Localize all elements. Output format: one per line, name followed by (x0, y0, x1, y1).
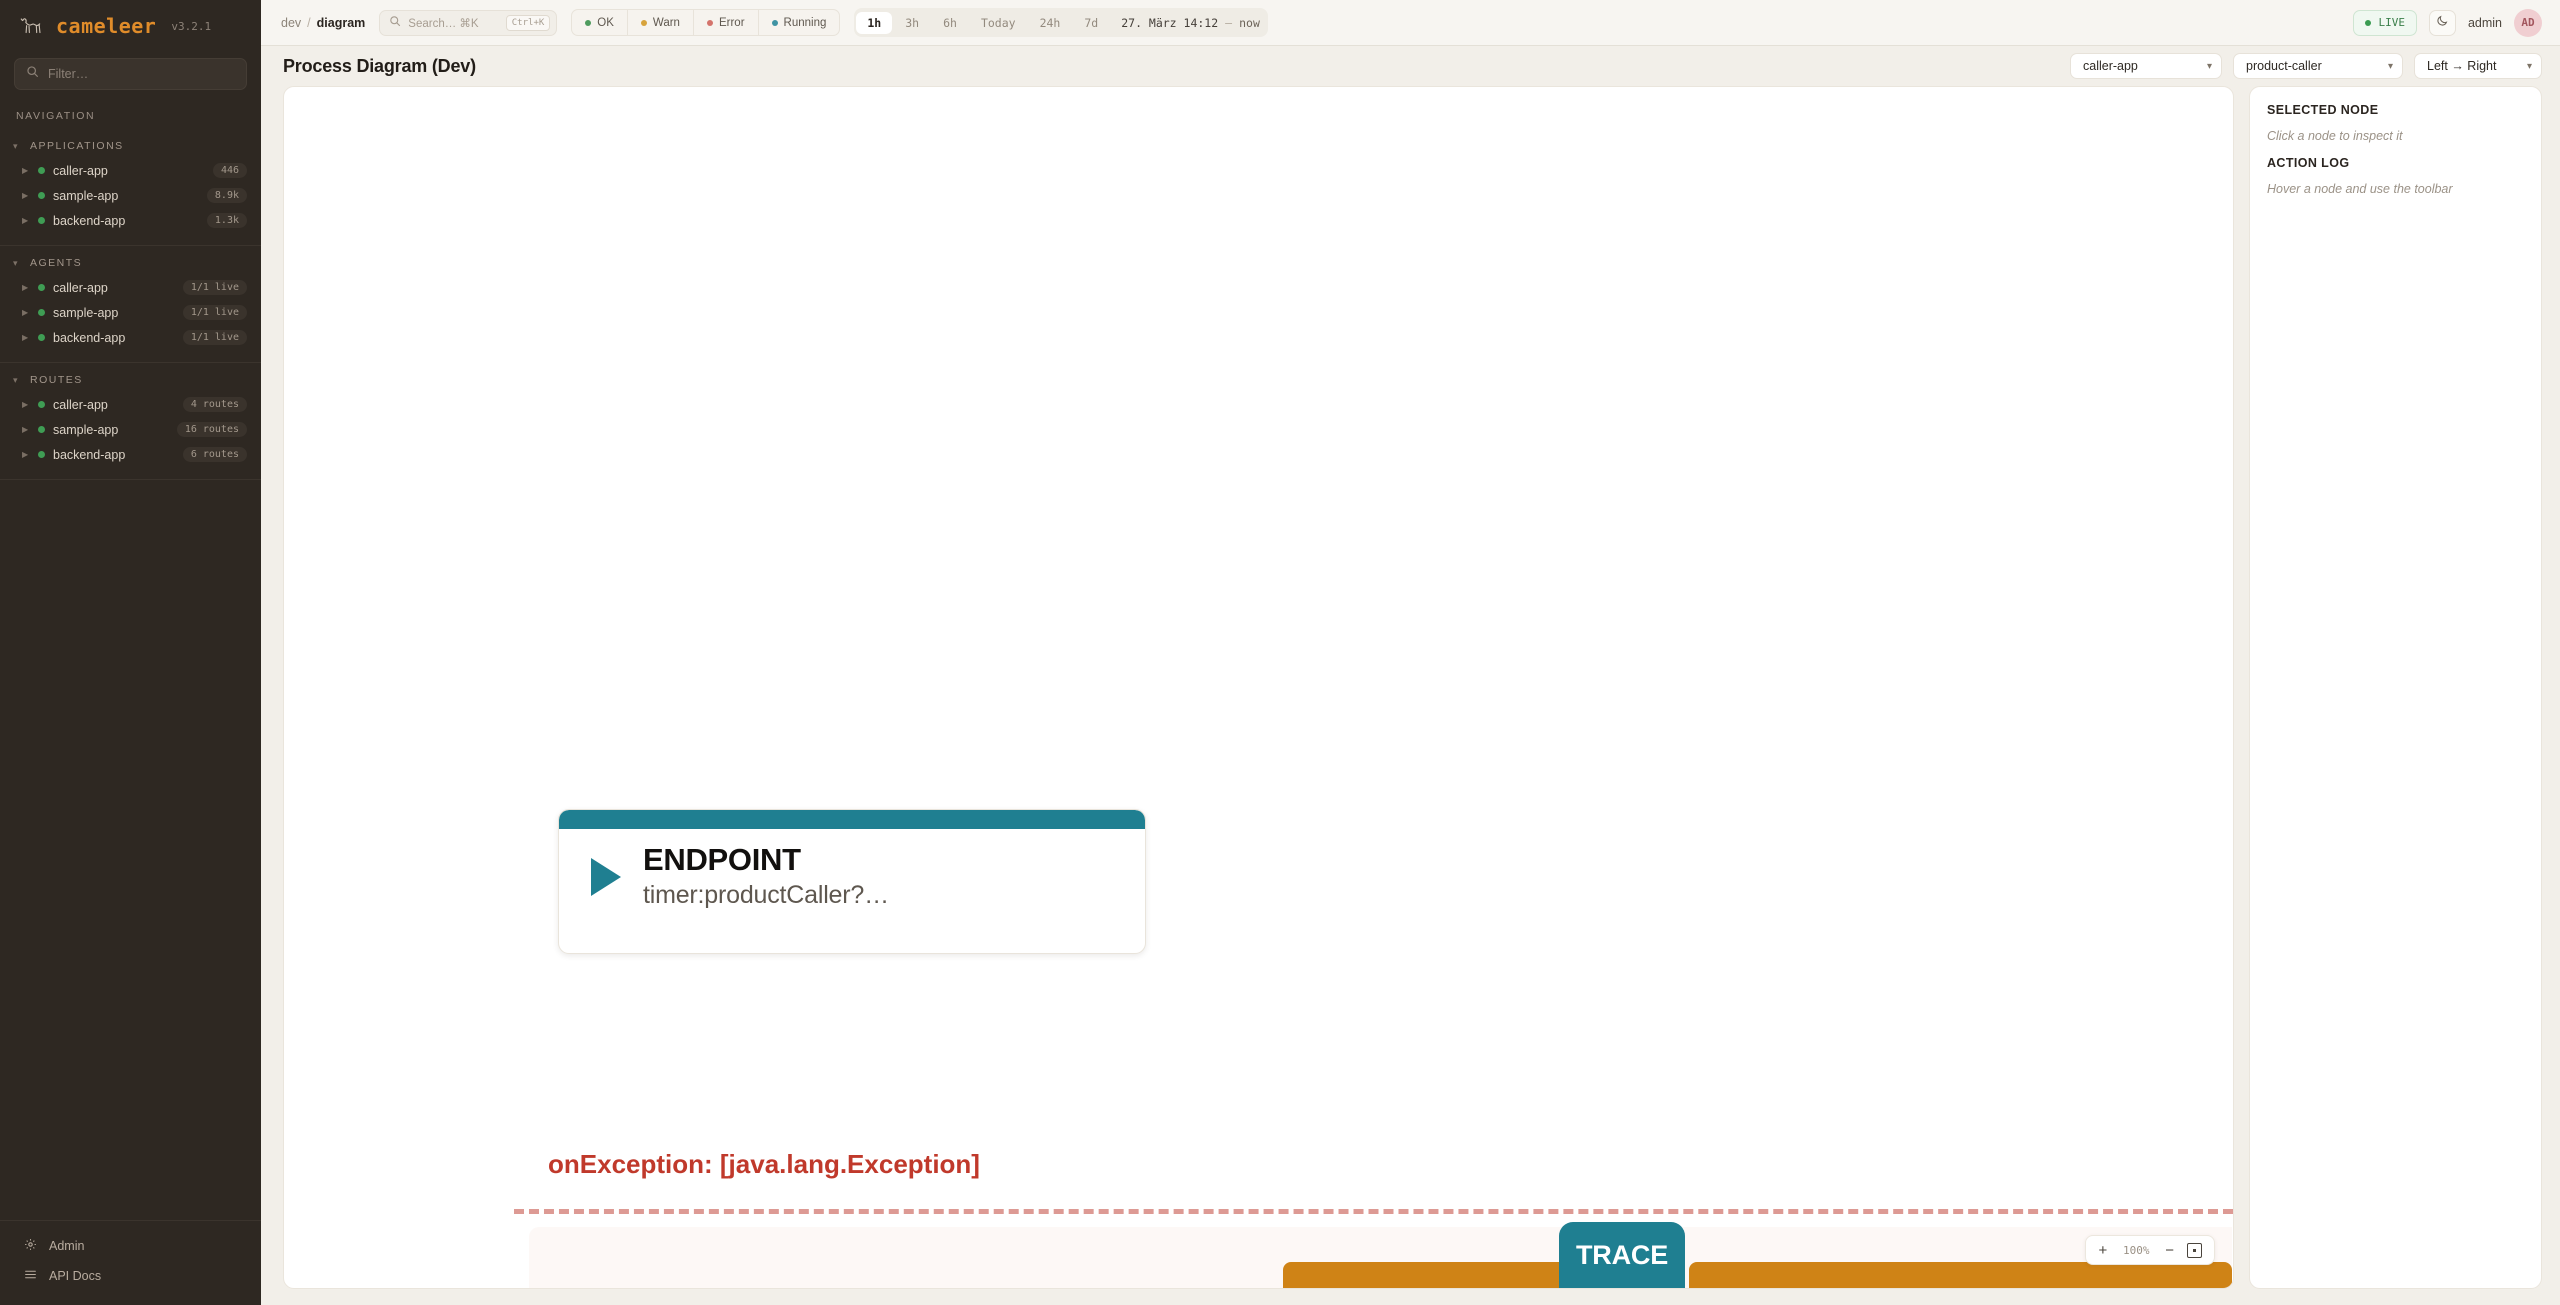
exception-divider (514, 1209, 2233, 1214)
page-body: ENDPOINT timer:productCaller?… onExcepti… (261, 86, 2560, 1305)
theme-toggle-button[interactable] (2429, 10, 2456, 36)
item-badge: 8.9k (207, 188, 247, 203)
item-label: sample-app (53, 423, 169, 437)
time-range-group: 1h 3h 6h Today 24h 7d 27. März 14:12 — n… (854, 8, 1268, 37)
live-indicator[interactable]: LIVE (2353, 10, 2417, 36)
sidebar-item-agents-caller-app[interactable]: ▶ caller-app 1/1 live (0, 275, 261, 300)
zoom-level-label: 100% (2120, 1244, 2152, 1257)
sidebar-footer: Admin API Docs (0, 1220, 261, 1305)
group-header-agents[interactable]: ▾ AGENTS (0, 249, 261, 275)
chevron-right-icon: ▶ (22, 192, 30, 200)
sidebar-item-agents-backend-app[interactable]: ▶ backend-app 1/1 live (0, 325, 261, 350)
user-name: admin (2468, 16, 2502, 30)
sidebar-item-applications-sample-app[interactable]: ▶ sample-app 8.9k (0, 183, 261, 208)
item-badge: 16 routes (177, 422, 247, 437)
item-label: caller-app (53, 164, 205, 178)
status-filter-warn[interactable]: Warn (628, 10, 694, 35)
breadcrumb-separator: / (307, 16, 310, 30)
item-badge: 6 routes (183, 447, 247, 462)
item-badge: 1.3k (207, 213, 247, 228)
status-filter-running[interactable]: Running (759, 10, 840, 35)
diagram-node-trace[interactable]: TRACE (1559, 1222, 1685, 1288)
navigation-title: NAVIGATION (0, 102, 261, 132)
exception-region: TRACE (529, 1227, 2232, 1288)
diagram-canvas[interactable]: ENDPOINT timer:productCaller?… onExcepti… (283, 86, 2234, 1289)
sidebar-item-routes-backend-app[interactable]: ▶ backend-app 6 routes (0, 442, 261, 467)
group-label: AGENTS (30, 257, 82, 269)
time-preset-6h[interactable]: 6h (932, 12, 968, 34)
zoom-in-button[interactable]: + (2098, 1243, 2107, 1258)
item-badge: 1/1 live (183, 330, 247, 345)
status-filter-error[interactable]: Error (694, 10, 759, 35)
chevron-right-icon: ▶ (22, 309, 30, 317)
status-dot (38, 217, 45, 224)
group-header-routes[interactable]: ▾ ROUTES (0, 366, 261, 392)
status-dot (38, 334, 45, 341)
gear-icon (24, 1238, 37, 1254)
time-preset-24h[interactable]: 24h (1029, 12, 1072, 34)
application-select-value: caller-app (2083, 59, 2197, 73)
group-header-applications[interactable]: ▾ APPLICATIONS (0, 132, 261, 158)
application-select[interactable]: caller-app ▾ (2070, 53, 2222, 79)
item-label: caller-app (53, 281, 175, 295)
item-label: sample-app (53, 189, 199, 203)
action-log-empty-text: Hover a node and use the toolbar (2267, 182, 2524, 196)
node-content: ENDPOINT timer:productCaller?… (559, 829, 1145, 910)
direction-select[interactable]: Left → Right ▾ (2414, 53, 2542, 79)
sidebar-item-api-docs[interactable]: API Docs (0, 1261, 261, 1291)
play-icon (591, 858, 621, 896)
item-label: backend-app (53, 448, 175, 462)
chevron-right-icon: ▶ (22, 401, 30, 409)
time-preset-1h[interactable]: 1h (856, 12, 892, 34)
status-dot (707, 20, 713, 26)
status-dot (38, 284, 45, 291)
status-dot (38, 426, 45, 433)
node-uri-label: timer:productCaller?… (643, 881, 889, 910)
search-placeholder: Search… ⌘K (408, 16, 498, 30)
chevron-right-icon: ▶ (22, 167, 30, 175)
global-search[interactable]: Search… ⌘K Ctrl+K (379, 10, 557, 36)
search-shortcut-kbd: Ctrl+K (506, 15, 551, 31)
main-area: dev / diagram Search… ⌘K Ctrl+K OK (261, 0, 2560, 1305)
nav-group-routes: ▾ ROUTES ▶ caller-app 4 routes ▶ sample-… (0, 366, 261, 480)
status-dot (38, 192, 45, 199)
status-dot (38, 451, 45, 458)
zoom-controls: + 100% − (2085, 1235, 2215, 1265)
processor-bar-right[interactable] (1689, 1262, 2232, 1288)
nav-group-agents: ▾ AGENTS ▶ caller-app 1/1 live ▶ sample-… (0, 249, 261, 363)
status-dot (641, 20, 647, 26)
breadcrumb: dev / diagram (281, 16, 365, 30)
sidebar-item-applications-backend-app[interactable]: ▶ backend-app 1.3k (0, 208, 261, 233)
route-select-value: product-caller (2246, 59, 2378, 73)
brand[interactable]: cameleer v3.2.1 (0, 0, 261, 52)
status-dot (772, 20, 778, 26)
direction-select-value: Left → Right (2427, 59, 2517, 73)
fit-to-screen-icon[interactable] (2187, 1243, 2202, 1258)
time-range-display[interactable]: 27. März 14:12 — now (1111, 16, 1266, 30)
route-select[interactable]: product-caller ▾ (2233, 53, 2403, 79)
filter-input[interactable] (48, 67, 235, 81)
diagram-node-endpoint[interactable]: ENDPOINT timer:productCaller?… (558, 809, 1146, 954)
sidebar-item-agents-sample-app[interactable]: ▶ sample-app 1/1 live (0, 300, 261, 325)
menu-icon (24, 1268, 37, 1284)
item-label: caller-app (53, 398, 175, 412)
breadcrumb-current: diagram (317, 16, 366, 30)
brand-version: v3.2.1 (171, 20, 211, 33)
chevron-right-icon: ▶ (22, 334, 30, 342)
nav-group-applications: ▾ APPLICATIONS ▶ caller-app 446 ▶ sample… (0, 132, 261, 246)
status-filter-label: Error (719, 17, 745, 29)
search-icon (389, 14, 401, 32)
item-badge: 446 (213, 163, 247, 178)
exception-label: onException: [java.lang.Exception] (548, 1149, 980, 1180)
chevron-down-icon: ▾ (2527, 61, 2532, 72)
selected-node-title: SELECTED NODE (2267, 103, 2524, 117)
chevron-right-icon: ▶ (22, 217, 30, 225)
item-label: backend-app (53, 331, 175, 345)
item-badge: 4 routes (183, 397, 247, 412)
moon-icon (2436, 14, 2449, 32)
time-range-to: now (1239, 16, 1260, 30)
status-filter-group: OK Warn Error Running (571, 9, 840, 36)
sidebar-item-routes-sample-app[interactable]: ▶ sample-app 16 routes (0, 417, 261, 442)
avatar[interactable]: AD (2514, 9, 2542, 37)
chevron-down-icon: ▾ (13, 259, 22, 268)
sidebar-footer-label: Admin (49, 1239, 84, 1253)
sidebar-footer-label: API Docs (49, 1269, 101, 1283)
chevron-right-icon: ▶ (22, 451, 30, 459)
sidebar-item-admin[interactable]: Admin (0, 1231, 261, 1261)
status-filter-label: Running (784, 17, 827, 29)
chevron-down-icon: ▾ (13, 376, 22, 385)
topbar: dev / diagram Search… ⌘K Ctrl+K OK (261, 0, 2560, 46)
selected-node-empty-text: Click a node to inspect it (2267, 129, 2524, 143)
item-label: backend-app (53, 214, 199, 228)
page-title: Process Diagram (Dev) (283, 56, 476, 77)
group-label: ROUTES (30, 374, 83, 386)
status-filter-label: Warn (653, 17, 680, 29)
live-label: LIVE (2378, 16, 2405, 29)
chevron-down-icon: ▾ (2207, 61, 2212, 72)
item-badge: 1/1 live (183, 280, 247, 295)
time-preset-7d[interactable]: 7d (1073, 12, 1109, 34)
inspector-panel: SELECTED NODE Click a node to inspect it… (2249, 86, 2542, 1289)
chevron-right-icon: ▶ (22, 426, 30, 434)
topbar-right: LIVE admin AD (2353, 9, 2542, 37)
node-kind-label: ENDPOINT (643, 843, 889, 877)
status-dot (38, 167, 45, 174)
item-label: sample-app (53, 306, 175, 320)
status-dot (2365, 20, 2371, 26)
status-filter-ok[interactable]: OK (572, 10, 628, 35)
sidebar-filter[interactable] (14, 58, 247, 90)
status-dot (585, 20, 591, 26)
node-text: ENDPOINT timer:productCaller?… (643, 843, 889, 910)
time-range-from: 27. März 14:12 (1121, 16, 1218, 30)
sidebar-item-applications-caller-app[interactable]: ▶ caller-app 446 (0, 158, 261, 183)
camel-icon (18, 13, 44, 39)
page-header-controls: caller-app ▾ product-caller ▾ Left → Rig… (2070, 53, 2542, 79)
item-badge: 1/1 live (183, 305, 247, 320)
chevron-right-icon: ▶ (22, 284, 30, 292)
page-header: Process Diagram (Dev) caller-app ▾ produ… (261, 46, 2560, 86)
time-preset-today[interactable]: Today (970, 12, 1027, 34)
zoom-out-button[interactable]: − (2165, 1243, 2174, 1258)
app-root: cameleer v3.2.1 NAVIGATION ▾ APPLICATION… (0, 0, 2560, 1305)
trace-label: TRACE (1576, 1240, 1668, 1271)
status-dot (38, 309, 45, 316)
action-log-title: ACTION LOG (2267, 156, 2524, 170)
node-header-stripe (559, 810, 1145, 829)
brand-name: cameleer (56, 14, 156, 38)
group-label: APPLICATIONS (30, 140, 124, 152)
status-filter-label: OK (597, 17, 614, 29)
sidebar-filter-wrap (0, 52, 261, 102)
chevron-down-icon: ▾ (2388, 61, 2393, 72)
breadcrumb-root[interactable]: dev (281, 16, 301, 30)
status-dot (38, 401, 45, 408)
sidebar: cameleer v3.2.1 NAVIGATION ▾ APPLICATION… (0, 0, 261, 1305)
time-preset-3h[interactable]: 3h (894, 12, 930, 34)
sidebar-item-routes-caller-app[interactable]: ▶ caller-app 4 routes (0, 392, 261, 417)
search-icon (26, 65, 39, 83)
chevron-down-icon: ▾ (13, 142, 22, 151)
time-range-dash: — (1225, 16, 1232, 30)
